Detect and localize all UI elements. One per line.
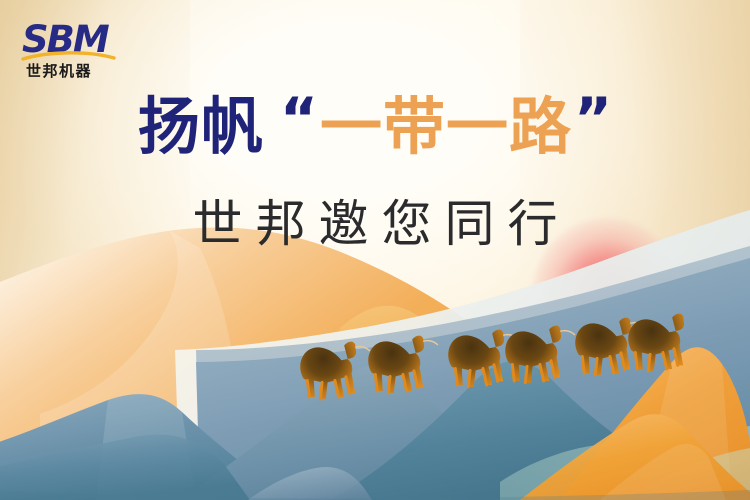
subheadline: 世邦邀您同行	[0, 196, 750, 254]
headline-quote-close: ”	[574, 90, 612, 148]
headline: 扬帆“一带一路”	[0, 96, 750, 158]
logo-chinese-text: 世邦机器	[26, 62, 92, 80]
headline-quote-open: “	[280, 90, 318, 148]
headline-main: 扬帆	[138, 96, 264, 158]
sbm-logo[interactable]: SBM 世邦机器	[20, 14, 136, 80]
promotional-banner: SBM 世邦机器 扬帆“一带一路” 世邦邀您同行	[0, 0, 750, 500]
headline-accent: 一带一路	[320, 96, 572, 158]
